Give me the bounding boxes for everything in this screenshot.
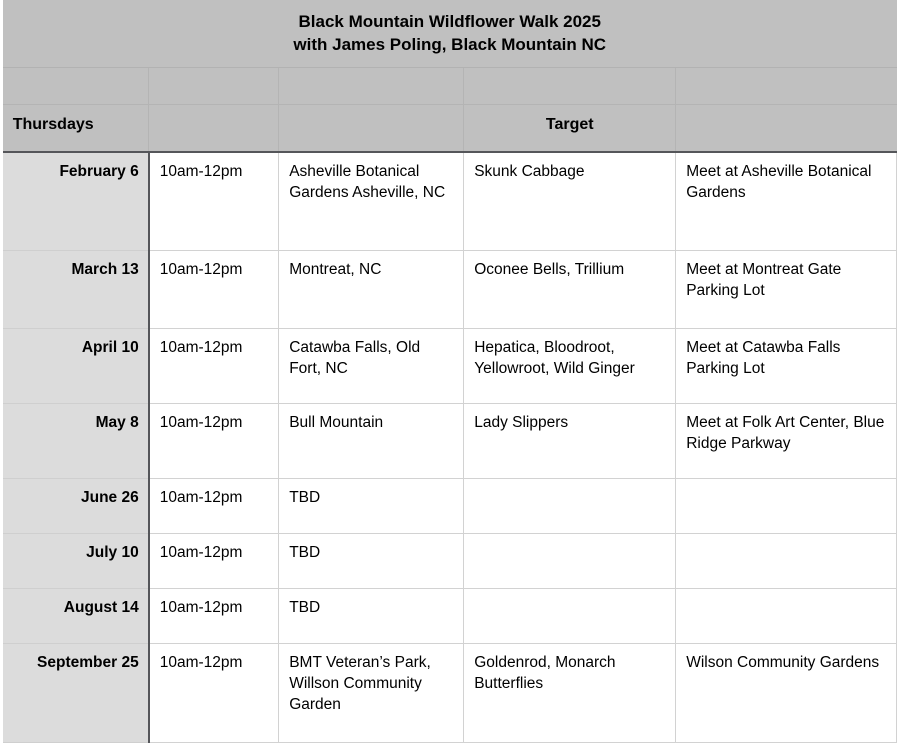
row-target: Skunk Cabbage xyxy=(464,152,676,251)
row-location: TBD xyxy=(279,479,464,534)
header-spacer-row xyxy=(3,68,897,105)
table-row: April 10 10am-12pm Catawba Falls, Old Fo… xyxy=(3,329,897,404)
row-meeting-point: Meet at Folk Art Center, Blue Ridge Park… xyxy=(676,404,897,479)
row-target xyxy=(464,534,676,589)
row-time: 10am-12pm xyxy=(149,152,279,251)
row-date: May 8 xyxy=(3,404,149,479)
row-date: February 6 xyxy=(3,152,149,251)
row-meeting-point xyxy=(676,534,897,589)
table-row: March 13 10am-12pm Montreat, NC Oconee B… xyxy=(3,251,897,329)
row-meeting-point: Meet at Asheville Botanical Gardens xyxy=(676,152,897,251)
row-location: TBD xyxy=(279,589,464,644)
schedule-title: Black Mountain Wildflower Walk 2025 with… xyxy=(3,0,897,68)
header-spacer-cell-1 xyxy=(3,68,149,105)
row-target xyxy=(464,589,676,644)
row-target xyxy=(464,479,676,534)
column-header-location xyxy=(279,105,464,153)
title-line-1: Black Mountain Wildflower Walk 2025 xyxy=(9,10,891,33)
column-header-meeting-point xyxy=(676,105,897,153)
row-location: Bull Mountain xyxy=(279,404,464,479)
row-meeting-point xyxy=(676,479,897,534)
row-location: BMT Veteran’s Park, Willson Community Ga… xyxy=(279,644,464,743)
row-meeting-point: Meet at Catawba Falls Parking Lot xyxy=(676,329,897,404)
row-target: Goldenrod, Monarch Butterflies xyxy=(464,644,676,743)
header-spacer-cell-4 xyxy=(464,68,676,105)
header-spacer-cell-5 xyxy=(676,68,897,105)
table-row: September 25 10am-12pm BMT Veteran’s Par… xyxy=(3,644,897,743)
row-location: Montreat, NC xyxy=(279,251,464,329)
row-location: Asheville Botanical Gardens Asheville, N… xyxy=(279,152,464,251)
table-row: May 8 10am-12pm Bull Mountain Lady Slipp… xyxy=(3,404,897,479)
column-header-time xyxy=(149,105,279,153)
row-time: 10am-12pm xyxy=(149,589,279,644)
wildflower-walk-schedule-table: Black Mountain Wildflower Walk 2025 with… xyxy=(3,0,898,743)
row-location: Catawba Falls, Old Fort, NC xyxy=(279,329,464,404)
table-row: June 26 10am-12pm TBD xyxy=(3,479,897,534)
row-location: TBD xyxy=(279,534,464,589)
row-date: August 14 xyxy=(3,589,149,644)
row-target: Lady Slippers xyxy=(464,404,676,479)
row-date: March 13 xyxy=(3,251,149,329)
row-date: July 10 xyxy=(3,534,149,589)
row-target: Hepatica, Bloodroot, Yellowroot, Wild Gi… xyxy=(464,329,676,404)
row-meeting-point xyxy=(676,589,897,644)
table-row: February 6 10am-12pm Asheville Botanical… xyxy=(3,152,897,251)
title-row: Black Mountain Wildflower Walk 2025 with… xyxy=(3,0,897,68)
title-line-2: with James Poling, Black Mountain NC xyxy=(9,33,891,56)
row-time: 10am-12pm xyxy=(149,479,279,534)
column-header-row: Thursdays Target xyxy=(3,105,897,153)
header-spacer-cell-2 xyxy=(149,68,279,105)
row-date: April 10 xyxy=(3,329,149,404)
row-time: 10am-12pm xyxy=(149,644,279,743)
column-header-target: Target xyxy=(464,105,676,153)
table-row: July 10 10am-12pm TBD xyxy=(3,534,897,589)
column-header-thursdays: Thursdays xyxy=(3,105,149,153)
row-date: September 25 xyxy=(3,644,149,743)
header-spacer-cell-3 xyxy=(279,68,464,105)
row-date: June 26 xyxy=(3,479,149,534)
row-time: 10am-12pm xyxy=(149,534,279,589)
row-target: Oconee Bells, Trillium xyxy=(464,251,676,329)
row-meeting-point: Meet at Montreat Gate Parking Lot xyxy=(676,251,897,329)
row-time: 10am-12pm xyxy=(149,329,279,404)
table-row: August 14 10am-12pm TBD xyxy=(3,589,897,644)
row-time: 10am-12pm xyxy=(149,251,279,329)
row-meeting-point: Wilson Community Gardens xyxy=(676,644,897,743)
row-time: 10am-12pm xyxy=(149,404,279,479)
